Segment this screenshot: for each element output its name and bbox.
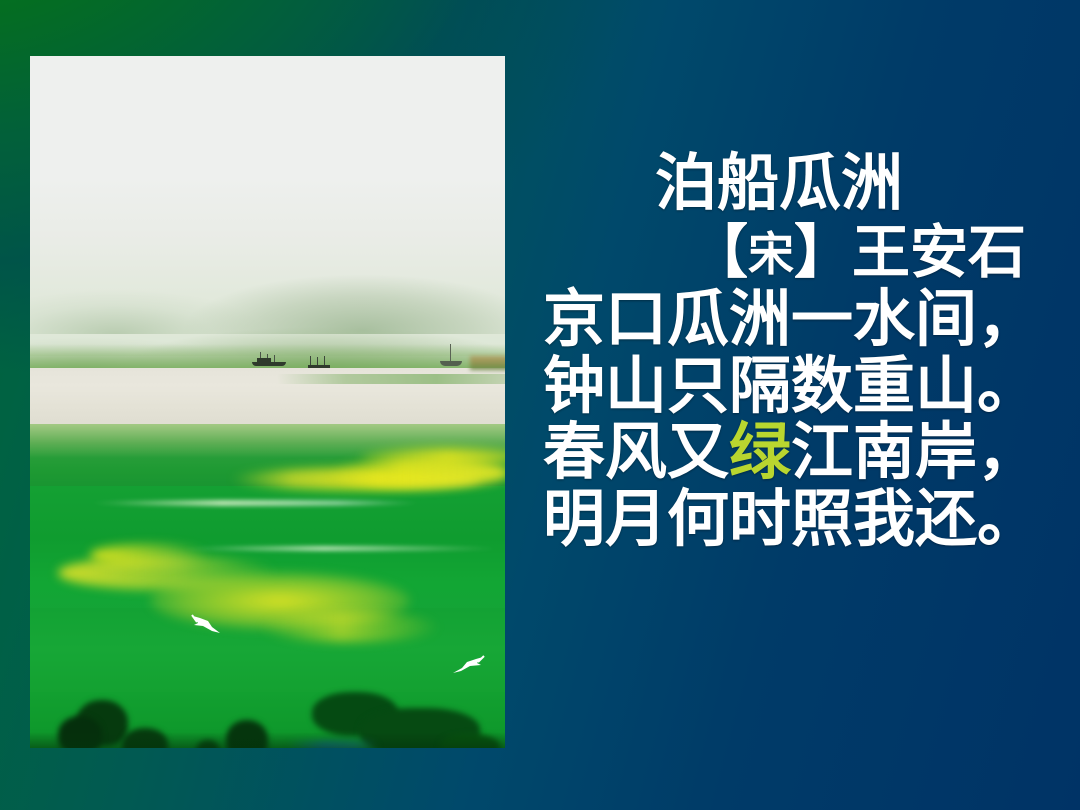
boat-left xyxy=(252,352,286,366)
field-streak-white-2 xyxy=(180,546,500,551)
poem-line-3-post: 江南岸， xyxy=(791,415,1039,488)
dynasty-bracket-close: 】 xyxy=(794,218,852,286)
author-name: 王安石 xyxy=(852,218,1026,286)
bottom-shadow xyxy=(30,732,505,748)
landscape-painting xyxy=(30,56,505,748)
river-sandbar xyxy=(277,374,505,384)
poem-block: 泊船瓜洲 【宋】王安石 京口瓜洲一水间， 钟山只隔数重山。 春风又绿江南岸， 明… xyxy=(515,150,1070,553)
slide-canvas: 泊船瓜洲 【宋】王安石 京口瓜洲一水间， 钟山只隔数重山。 春风又绿江南岸， 明… xyxy=(0,0,1080,810)
boat-right xyxy=(438,344,464,368)
poem-line-3-pre: 春风又 xyxy=(543,415,729,488)
dynasty-bracket-open: 【 xyxy=(690,218,748,286)
poem-line-1: 京口瓜洲一水间， xyxy=(515,286,1070,353)
poem-title: 泊船瓜洲 xyxy=(515,150,1070,217)
egret-upper xyxy=(190,612,224,636)
poem-line-3: 春风又绿江南岸， xyxy=(515,419,1070,486)
poem-line-4: 明月何时照我还。 xyxy=(515,486,1070,553)
rapeseed-patch-6 xyxy=(260,612,440,642)
poem-line-2: 钟山只隔数重山。 xyxy=(515,353,1070,420)
poem-author-line: 【宋】王安石 xyxy=(515,221,1070,284)
dynasty-label: 宋 xyxy=(748,227,794,281)
boat-middle xyxy=(308,356,330,368)
egret-lower xyxy=(450,654,486,676)
field-streak-white xyxy=(90,500,420,506)
far-shore-cluster xyxy=(470,356,505,370)
poem-highlight-char: 绿 xyxy=(729,415,791,488)
